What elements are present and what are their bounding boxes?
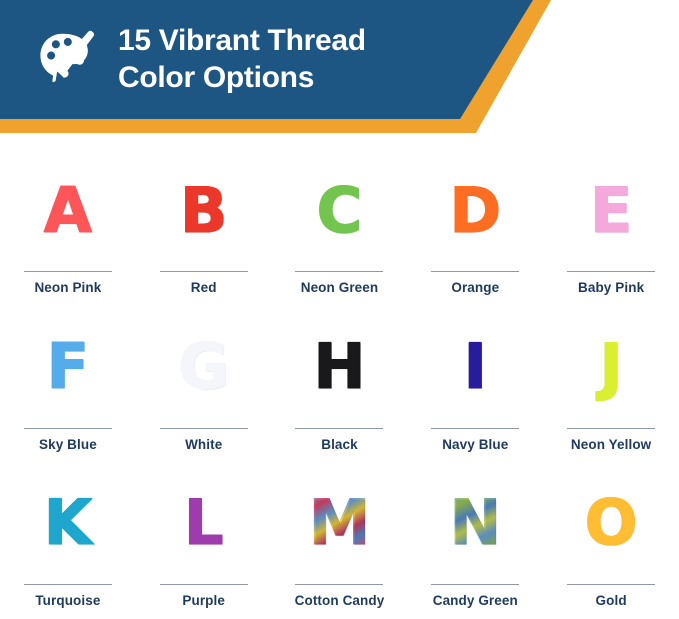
thread-letter-sample: E: [590, 180, 632, 242]
thread-letter-sample: M: [309, 492, 371, 554]
thread-color-label: Cotton Candy: [295, 594, 385, 609]
letter-sample-wrap: I: [407, 306, 543, 427]
swatch-divider: [431, 584, 519, 585]
letter-sample-wrap: B: [136, 150, 272, 271]
swatch-cell[interactable]: B Red: [136, 150, 272, 306]
page-title: 15 Vibrant Thread Color Options: [118, 23, 366, 96]
thread-color-grid: A Neon Pink B Red C Neon Green D Orange: [0, 150, 679, 619]
thread-color-label: Turquoise: [35, 594, 100, 609]
letter-sample-wrap: J: [543, 306, 679, 427]
swatch-divider: [24, 271, 112, 272]
thread-color-label: Purple: [182, 594, 225, 609]
thread-color-label: Red: [191, 281, 217, 296]
swatch-divider: [431, 428, 519, 429]
swatch-divider: [24, 428, 112, 429]
swatch-divider: [295, 271, 383, 272]
swatch-cell[interactable]: H Black: [272, 306, 408, 462]
swatch-cell[interactable]: D Orange: [407, 150, 543, 306]
thread-letter-sample: G: [178, 336, 229, 398]
swatch-divider: [160, 271, 248, 272]
swatch-divider: [431, 271, 519, 272]
thread-color-label: Black: [321, 438, 358, 453]
thread-letter-sample: J: [600, 336, 623, 398]
letter-sample-wrap: K: [0, 463, 136, 584]
thread-letter-sample: K: [44, 492, 92, 554]
swatch-cell[interactable]: J Neon Yellow: [543, 306, 679, 462]
thread-color-options-page: 15 Vibrant Thread Color Options A Neon P…: [0, 0, 679, 619]
swatch-cell[interactable]: M Cotton Candy: [272, 463, 408, 619]
thread-color-label: Sky Blue: [39, 438, 97, 453]
swatch-divider: [567, 428, 655, 429]
thread-letter-sample: C: [317, 180, 363, 242]
thread-color-label: Gold: [596, 594, 627, 609]
swatch-divider: [567, 584, 655, 585]
swatch-divider: [567, 271, 655, 272]
thread-letter-sample: F: [47, 336, 89, 398]
letter-sample-wrap: A: [0, 150, 136, 271]
swatch-cell[interactable]: E Baby Pink: [543, 150, 679, 306]
swatch-divider: [295, 584, 383, 585]
swatch-cell[interactable]: I Navy Blue: [407, 306, 543, 462]
thread-letter-sample: O: [585, 492, 638, 554]
letter-sample-wrap: C: [272, 150, 408, 271]
thread-color-label: Orange: [451, 281, 499, 296]
swatch-cell[interactable]: O Gold: [543, 463, 679, 619]
thread-color-label: Neon Pink: [34, 281, 101, 296]
letter-sample-wrap: N: [407, 463, 543, 584]
thread-color-label: Baby Pink: [578, 281, 644, 296]
swatch-cell[interactable]: L Purple: [136, 463, 272, 619]
letter-sample-wrap: H: [272, 306, 408, 427]
letter-sample-wrap: D: [407, 150, 543, 271]
thread-color-label: Navy Blue: [442, 438, 508, 453]
letter-sample-wrap: M: [272, 463, 408, 584]
swatch-cell[interactable]: A Neon Pink: [0, 150, 136, 306]
letter-sample-wrap: F: [0, 306, 136, 427]
letter-sample-wrap: O: [543, 463, 679, 584]
thread-letter-sample: B: [180, 180, 227, 242]
swatch-divider: [160, 584, 248, 585]
swatch-cell[interactable]: N Candy Green: [407, 463, 543, 619]
thread-color-label: White: [185, 438, 222, 453]
banner-content: 15 Vibrant Thread Color Options: [0, 0, 560, 120]
swatch-cell[interactable]: C Neon Green: [272, 150, 408, 306]
swatch-cell[interactable]: G White: [136, 306, 272, 462]
thread-color-label: Candy Green: [433, 594, 518, 609]
thread-letter-sample: N: [449, 492, 501, 554]
letter-sample-wrap: E: [543, 150, 679, 271]
letter-sample-wrap: G: [136, 306, 272, 427]
header-banner: 15 Vibrant Thread Color Options: [0, 0, 679, 140]
thread-letter-sample: D: [450, 180, 501, 242]
swatch-divider: [24, 584, 112, 585]
thread-letter-sample: H: [314, 336, 366, 398]
swatch-cell[interactable]: F Sky Blue: [0, 306, 136, 462]
swatch-cell[interactable]: K Turquoise: [0, 463, 136, 619]
thread-color-label: Neon Green: [301, 281, 379, 296]
thread-letter-sample: L: [184, 492, 224, 554]
letter-sample-wrap: L: [136, 463, 272, 584]
thread-color-label: Neon Yellow: [571, 438, 651, 453]
palette-icon: [34, 27, 100, 93]
thread-letter-sample: I: [464, 336, 487, 398]
thread-letter-sample: A: [44, 180, 92, 242]
swatch-divider: [295, 428, 383, 429]
swatch-divider: [160, 428, 248, 429]
